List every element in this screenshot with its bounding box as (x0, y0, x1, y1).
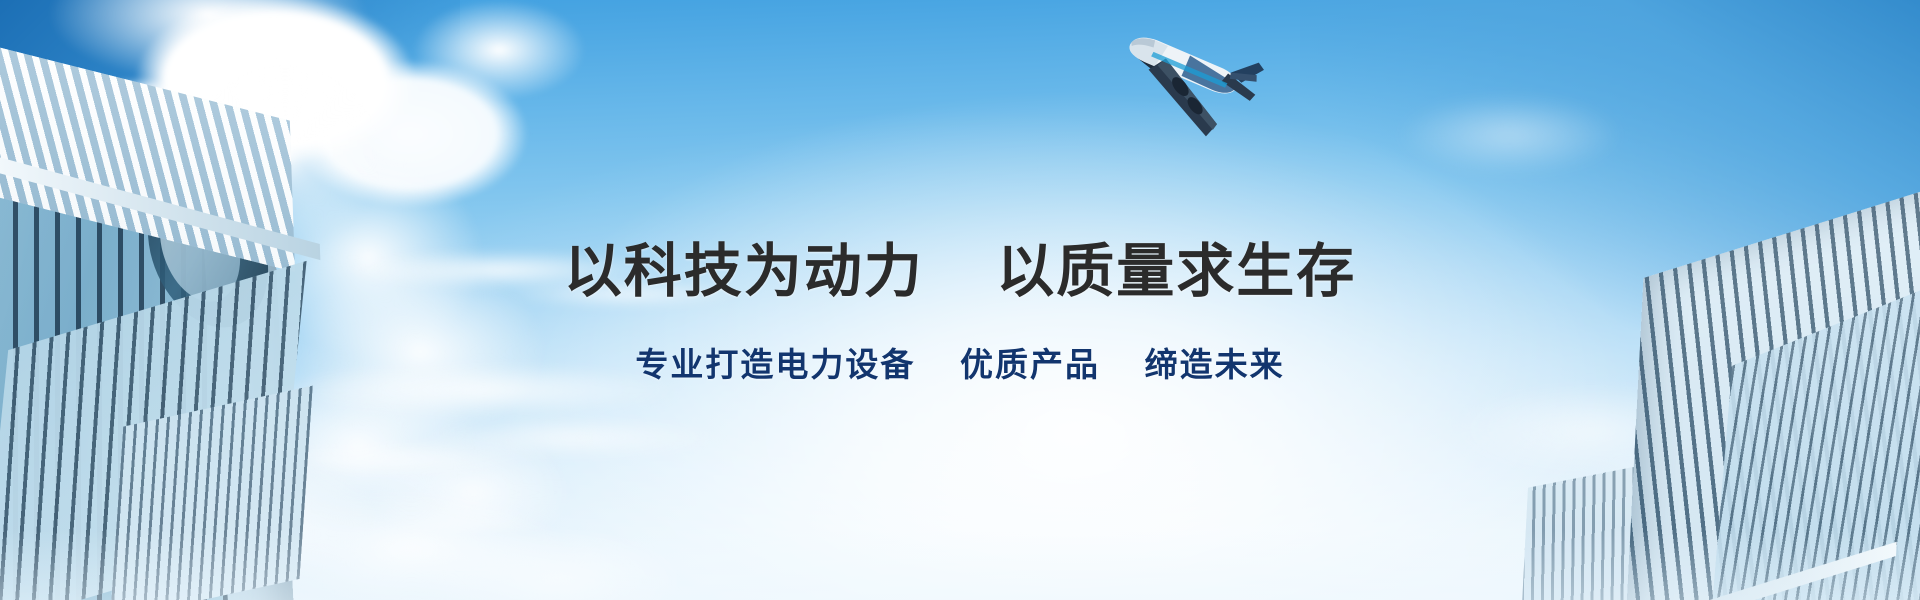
banner-headline: 以科技为动力 以质量求生存 (564, 240, 1356, 304)
banner-subheadline: 专业打造电力设备 优质产品 缔造未来 (635, 338, 1284, 386)
banner-copy: 以科技为动力 以质量求生存 专业打造电力设备 优质产品 缔造未来 (0, 240, 1920, 386)
hero-banner: 以科技为动力 以质量求生存 专业打造电力设备 优质产品 缔造未来 (0, 0, 1920, 600)
airplane-icon (1080, 4, 1270, 169)
